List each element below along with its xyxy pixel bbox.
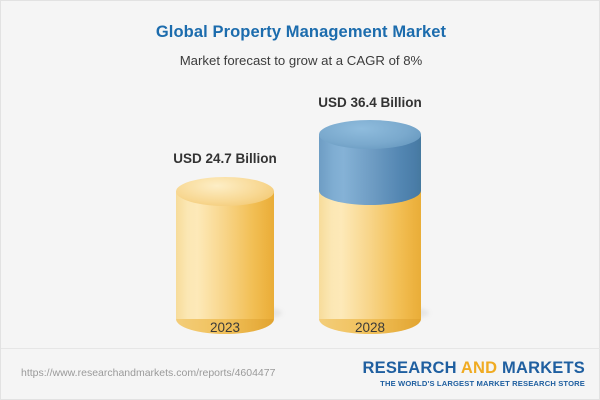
logo-wordmark: RESEARCH AND MARKETS <box>363 359 586 378</box>
bar-2028 <box>319 120 421 319</box>
bar-segment-base <box>176 177 274 319</box>
cylinder-top-ellipse <box>319 120 421 149</box>
report-url[interactable]: https://www.researchandmarkets.com/repor… <box>21 367 275 379</box>
logo-tagline: THE WORLD'S LARGEST MARKET RESEARCH STOR… <box>363 379 586 389</box>
logo-word-research: RESEARCH <box>363 359 457 377</box>
bar-segment-growth <box>319 120 421 206</box>
bar-chart-plot-area: USD 24.7 Billion 2023 USD 36.4 Billion <box>1 1 600 349</box>
research-and-markets-logo[interactable]: RESEARCH AND MARKETS THE WORLD'S LARGEST… <box>363 359 586 389</box>
cylinder-top-ellipse <box>176 177 274 206</box>
logo-word-markets: MARKETS <box>502 359 585 377</box>
bar-value-label-2023: USD 24.7 Billion <box>145 151 305 166</box>
footer: https://www.researchandmarkets.com/repor… <box>1 348 600 399</box>
market-forecast-infographic-card: Global Property Management Market Market… <box>0 0 600 400</box>
logo-word-and: AND <box>457 359 502 377</box>
bar-category-label-2028: 2028 <box>320 320 420 335</box>
cylinder-body <box>176 191 274 319</box>
bar-2023 <box>176 177 274 319</box>
bar-category-label-2023: 2023 <box>175 320 275 335</box>
bar-value-label-2028: USD 36.4 Billion <box>290 95 450 110</box>
cylinder-bottom-ellipse <box>319 176 421 205</box>
